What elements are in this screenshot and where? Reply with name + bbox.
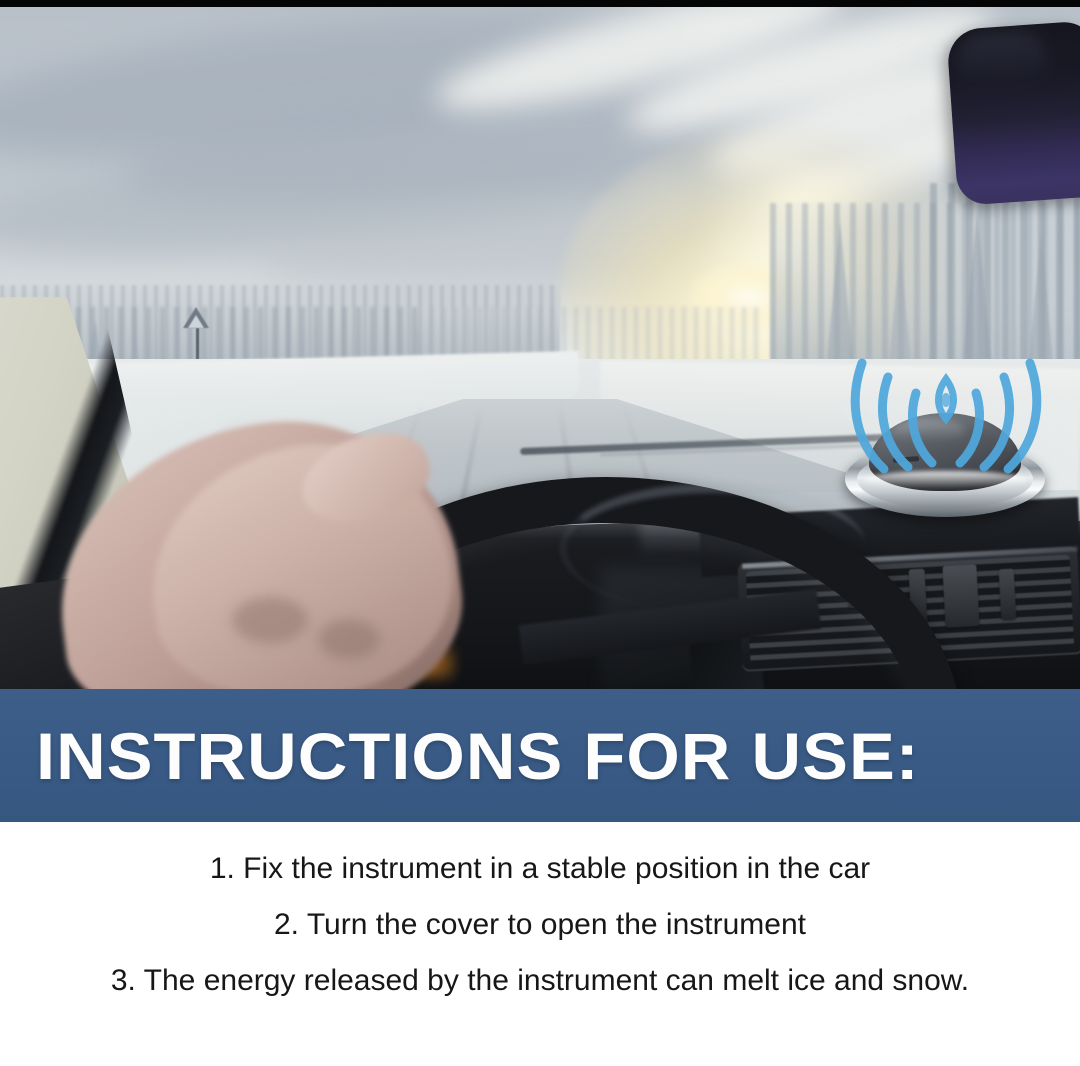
rearview-mirror xyxy=(946,20,1080,206)
instructions-banner: INSTRUCTIONS FOR USE: xyxy=(0,689,1080,822)
top-black-bar xyxy=(0,0,1080,7)
air-vent-adjuster xyxy=(942,564,979,628)
instruction-step-1: 1. Fix the instrument in a stable positi… xyxy=(0,854,1080,884)
product-instruction-card: INSTRUCTIONS FOR USE: 1. Fix the instrum… xyxy=(0,0,1080,1066)
steering-wheel-highlight xyxy=(560,483,866,613)
banner-title: INSTRUCTIONS FOR USE: xyxy=(36,723,920,789)
mirror-sheen xyxy=(954,30,1048,90)
hand-shadow xyxy=(232,597,308,643)
hand-shadow xyxy=(318,619,380,659)
instruction-step-3: 3. The energy released by the instrument… xyxy=(0,966,1080,996)
instruction-step-2: 2. Turn the cover to open the instrument xyxy=(0,910,1080,940)
air-vent-adjuster xyxy=(999,569,1017,620)
energy-wave-icon xyxy=(838,345,1054,475)
instructions-list: 1. Fix the instrument in a stable positi… xyxy=(0,822,1080,1066)
warning-sign-inner xyxy=(188,315,204,328)
winter-driving-photo xyxy=(0,7,1080,689)
